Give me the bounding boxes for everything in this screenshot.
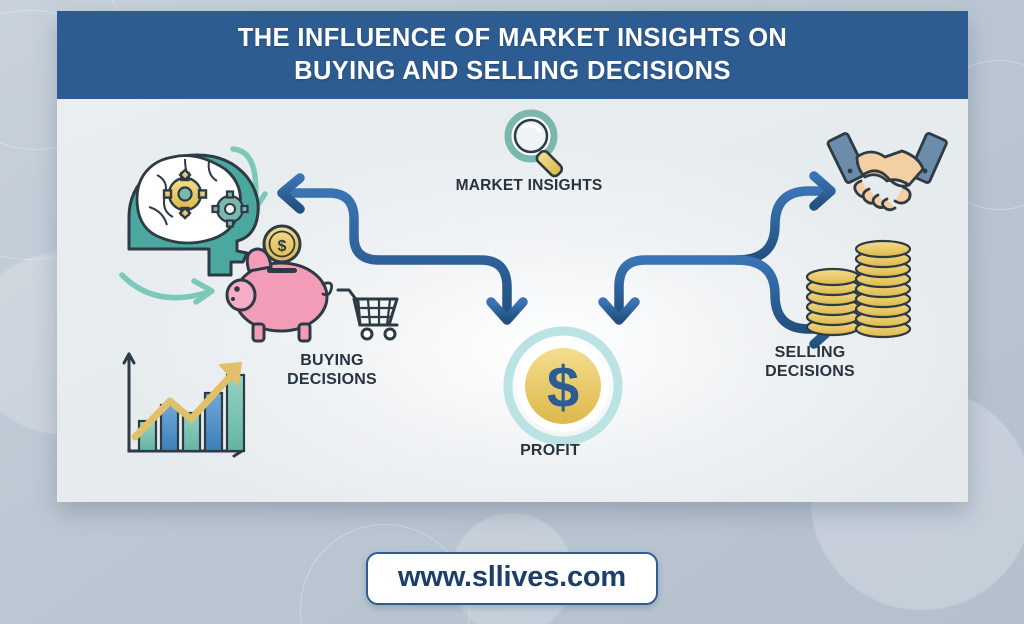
infographic-card: THE INFLUENCE OF MARKET INSIGHTS ON BUYI…	[57, 11, 968, 502]
piggy-bank-icon: $	[227, 226, 332, 341]
handshake-icon	[827, 133, 947, 210]
coin-stacks-icon	[807, 241, 910, 337]
selling-label-line-1: SELLING	[775, 344, 846, 361]
node-label-profit: PROFIT	[452, 442, 648, 461]
brain-gears-icon	[129, 155, 258, 275]
magnifier-icon	[508, 113, 564, 178]
buying-label-line-2: DECISIONS	[287, 371, 377, 388]
coin-stack-tall	[856, 241, 910, 337]
page-title: THE INFLUENCE OF MARKET INSIGHTS ON BUYI…	[238, 22, 788, 87]
website-url-badge[interactable]: www.sllives.com	[366, 552, 658, 605]
flow-arrows-group	[282, 176, 831, 344]
buying-label-line-1: BUYING	[300, 352, 363, 369]
selling-label-line-2: DECISIONS	[765, 363, 855, 380]
footer: www.sllives.com	[0, 552, 1024, 605]
profit-coin-icon: $	[508, 331, 618, 441]
node-label-selling-decisions: SELLING DECISIONS	[717, 344, 903, 382]
infographic-header: THE INFLUENCE OF MARKET INSIGHTS ON BUYI…	[57, 11, 968, 99]
coin-stack-short	[807, 269, 859, 335]
svg-text:$: $	[278, 238, 287, 255]
node-label-buying-decisions: BUYING DECISIONS	[239, 352, 425, 390]
page-title-line-1: THE INFLUENCE OF MARKET INSIGHTS ON	[238, 24, 788, 52]
node-label-market-insights: MARKET INSIGHTS	[409, 177, 649, 195]
website-url-text: www.sllives.com	[398, 561, 626, 593]
teal-arrow-to-piggy	[122, 275, 209, 298]
page-title-line-2: BUYING AND SELLING DECISIONS	[294, 57, 731, 85]
arrow-path-right-trunk	[619, 260, 737, 317]
bar-chart-growth-icon	[124, 354, 244, 456]
dollar-symbol: $	[547, 355, 579, 420]
shopping-cart-icon	[338, 290, 397, 339]
diagram-canvas: $	[57, 99, 968, 502]
